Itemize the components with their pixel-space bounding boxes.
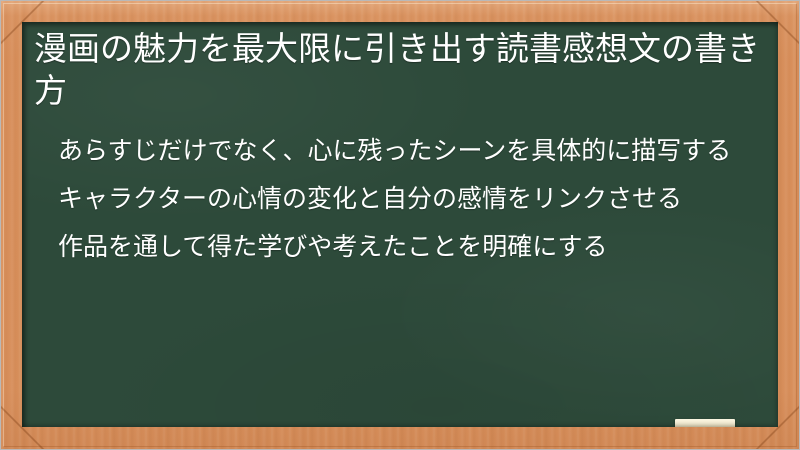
list-item: キャラクターの心情の変化と自分の感情をリンクさせる: [58, 182, 764, 216]
bullet-list: あらすじだけでなく、心に残ったシーンを具体的に描写する キャラクターの心情の変化…: [34, 134, 764, 264]
slide-canvas: 漫画の魅力を最大限に引き出す読書感想文の書き方 あらすじだけでなく、心に残ったシ…: [0, 0, 800, 450]
list-item: あらすじだけでなく、心に残ったシーンを具体的に描写する: [58, 134, 764, 168]
page-title: 漫画の魅力を最大限に引き出す読書感想文の書き方: [34, 28, 764, 112]
list-item: 作品を通して得た学びや考えたことを明確にする: [58, 230, 764, 264]
chalk-stick-icon: [675, 419, 735, 427]
wooden-frame: 漫画の魅力を最大限に引き出す読書感想文の書き方 あらすじだけでなく、心に残ったシ…: [0, 0, 800, 450]
blackboard: 漫画の魅力を最大限に引き出す読書感想文の書き方 あらすじだけでなく、心に残ったシ…: [22, 22, 778, 427]
blackboard-content: 漫画の魅力を最大限に引き出す読書感想文の書き方 あらすじだけでなく、心に残ったシ…: [22, 22, 778, 427]
